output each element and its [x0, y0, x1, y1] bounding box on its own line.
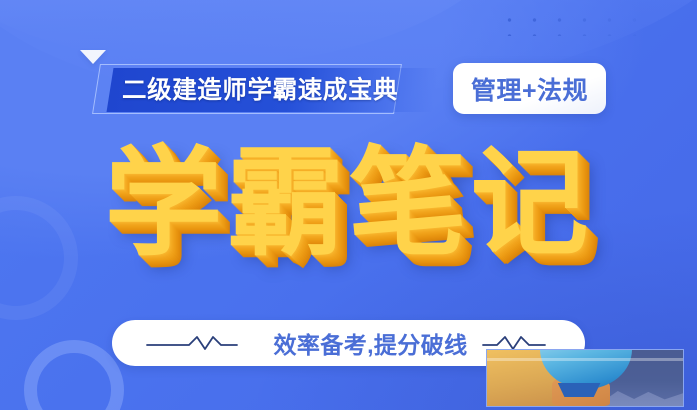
subtitle-banner: 二级建造师学霸速成宝典 — [96, 62, 436, 114]
overlay-thumbnail-image — [486, 349, 684, 407]
overlay-band-shape — [558, 383, 601, 398]
tag-bubble: 管理+法规 — [453, 63, 606, 114]
subtitle-banner-shape: 二级建造师学霸速成宝典 — [96, 62, 436, 114]
tag-bubble-text: 管理+法规 — [471, 71, 588, 107]
pulse-line-left-icon — [145, 332, 261, 354]
footer-pill-text: 效率备考,提分破线 — [274, 326, 468, 360]
promo-poster: 二级建造师学霸速成宝典 管理+法规 学霸笔记 效率备考,提分破线 — [0, 0, 697, 410]
overlay-highlight-strip — [487, 358, 683, 361]
page-title: 学霸笔记 — [0, 134, 697, 274]
tag-bubble-tail-icon — [80, 50, 106, 64]
dot-grid-icon — [497, 10, 679, 36]
subtitle-banner-text: 二级建造师学霸速成宝典 — [122, 62, 398, 114]
